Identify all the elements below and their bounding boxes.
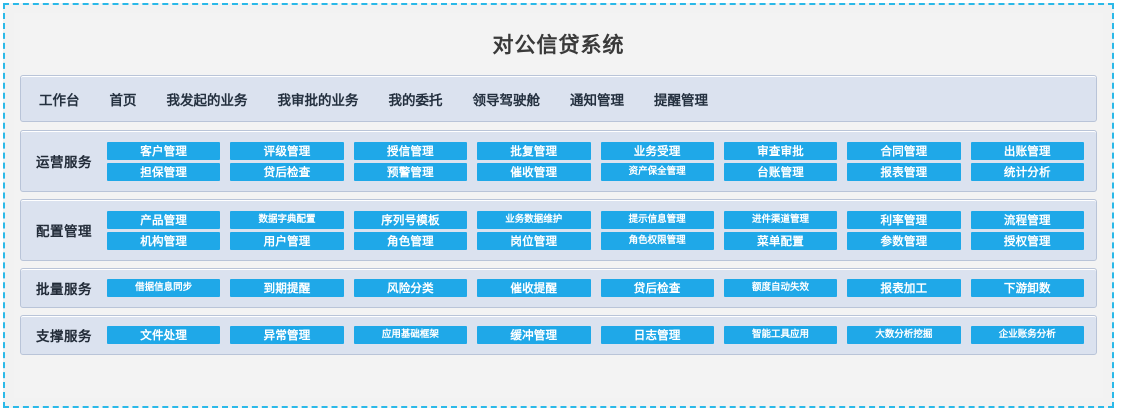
- module-button[interactable]: 贷后检查: [230, 163, 343, 181]
- app-window: 对公信贷系统 工作台首页我发起的业务我审批的业务我的委托领导驾驶舱通知管理提醒管…: [3, 3, 1114, 408]
- module-button[interactable]: 授信管理: [354, 142, 467, 160]
- module-button[interactable]: 合同管理: [847, 142, 960, 160]
- module-button[interactable]: 出账管理: [971, 142, 1084, 160]
- section-label-0: 运营服务: [21, 151, 107, 171]
- nav-item-3[interactable]: 我审批的业务: [278, 89, 359, 109]
- module-button[interactable]: 资产保全管理: [601, 163, 714, 181]
- module-button[interactable]: 统计分析: [971, 163, 1084, 181]
- nav-item-1[interactable]: 首页: [110, 89, 137, 109]
- main-nav: 工作台首页我发起的业务我审批的业务我的委托领导驾驶舱通知管理提醒管理: [20, 75, 1097, 122]
- nav-item-2[interactable]: 我发起的业务: [167, 89, 248, 109]
- module-button[interactable]: 角色管理: [354, 232, 467, 250]
- module-button[interactable]: 客户管理: [107, 142, 220, 160]
- page-title: 对公信贷系统: [493, 29, 625, 59]
- module-button[interactable]: 预警管理: [354, 163, 467, 181]
- module-button[interactable]: 企业账务分析: [971, 326, 1084, 344]
- module-button[interactable]: 评级管理: [230, 142, 343, 160]
- module-button[interactable]: 授权管理: [971, 232, 1084, 250]
- module-button[interactable]: 应用基础框架: [354, 326, 467, 344]
- module-button[interactable]: 借据信息同步: [107, 279, 220, 297]
- module-button[interactable]: 流程管理: [971, 211, 1084, 229]
- module-button[interactable]: 机构管理: [107, 232, 220, 250]
- nav-item-7[interactable]: 提醒管理: [654, 89, 708, 109]
- module-button[interactable]: 贷后检查: [601, 279, 714, 297]
- section-label-3: 支撑服务: [21, 325, 107, 345]
- section-label-2: 批量服务: [21, 278, 107, 298]
- section-1: 配置管理产品管理数据字典配置序列号模板业务数据维护提示信息管理进件渠道管理利率管…: [20, 199, 1097, 261]
- module-button[interactable]: 台账管理: [724, 163, 837, 181]
- module-button[interactable]: 报表加工: [847, 279, 960, 297]
- module-button[interactable]: 数据字典配置: [230, 211, 343, 229]
- module-button[interactable]: 参数管理: [847, 232, 960, 250]
- module-button[interactable]: 利率管理: [847, 211, 960, 229]
- module-button[interactable]: 产品管理: [107, 211, 220, 229]
- module-button[interactable]: 序列号模板: [354, 211, 467, 229]
- module-button[interactable]: 报表管理: [847, 163, 960, 181]
- module-sections: 运营服务客户管理评级管理授信管理批复管理业务受理审查审批合同管理出账管理担保管理…: [14, 130, 1103, 355]
- module-button[interactable]: 批复管理: [477, 142, 590, 160]
- module-button[interactable]: 提示信息管理: [601, 211, 714, 229]
- module-button[interactable]: 菜单配置: [724, 232, 837, 250]
- module-button[interactable]: 日志管理: [601, 326, 714, 344]
- module-button[interactable]: 异常管理: [230, 326, 343, 344]
- section-0: 运营服务客户管理评级管理授信管理批复管理业务受理审查审批合同管理出账管理担保管理…: [20, 130, 1097, 192]
- module-button[interactable]: 缓冲管理: [477, 326, 590, 344]
- section-button-grid-1: 产品管理数据字典配置序列号模板业务数据维护提示信息管理进件渠道管理利率管理流程管…: [107, 211, 1096, 250]
- app-content: 对公信贷系统 工作台首页我发起的业务我审批的业务我的委托领导驾驶舱通知管理提醒管…: [14, 13, 1103, 398]
- nav-item-5[interactable]: 领导驾驶舱: [473, 89, 541, 109]
- section-button-grid-2: 借据信息同步到期提醒风险分类催收提醒贷后检查额度自动失效报表加工下游卸数: [107, 279, 1096, 297]
- module-button[interactable]: 下游卸数: [971, 279, 1084, 297]
- module-button[interactable]: 催收提醒: [477, 279, 590, 297]
- section-button-grid-3: 文件处理异常管理应用基础框架缓冲管理日志管理智能工具应用大数分析挖掘企业账务分析: [107, 326, 1096, 344]
- title-bar: 对公信贷系统: [14, 13, 1103, 75]
- module-button[interactable]: 到期提醒: [230, 279, 343, 297]
- module-button[interactable]: 业务受理: [601, 142, 714, 160]
- module-button[interactable]: 风险分类: [354, 279, 467, 297]
- module-button[interactable]: 业务数据维护: [477, 211, 590, 229]
- module-button[interactable]: 审查审批: [724, 142, 837, 160]
- nav-item-6[interactable]: 通知管理: [570, 89, 624, 109]
- nav-item-4[interactable]: 我的委托: [389, 89, 443, 109]
- module-button[interactable]: 用户管理: [230, 232, 343, 250]
- module-button[interactable]: 智能工具应用: [724, 326, 837, 344]
- module-button[interactable]: 额度自动失效: [724, 279, 837, 297]
- section-button-grid-0: 客户管理评级管理授信管理批复管理业务受理审查审批合同管理出账管理担保管理贷后检查…: [107, 142, 1096, 181]
- module-button[interactable]: 催收管理: [477, 163, 590, 181]
- module-button[interactable]: 岗位管理: [477, 232, 590, 250]
- section-2: 批量服务借据信息同步到期提醒风险分类催收提醒贷后检查额度自动失效报表加工下游卸数: [20, 268, 1097, 308]
- section-label-1: 配置管理: [21, 220, 107, 240]
- module-button[interactable]: 担保管理: [107, 163, 220, 181]
- module-button[interactable]: 大数分析挖掘: [847, 326, 960, 344]
- nav-item-0[interactable]: 工作台: [39, 89, 80, 109]
- module-button[interactable]: 文件处理: [107, 326, 220, 344]
- module-button[interactable]: 进件渠道管理: [724, 211, 837, 229]
- module-button[interactable]: 角色权限管理: [601, 232, 714, 250]
- section-3: 支撑服务文件处理异常管理应用基础框架缓冲管理日志管理智能工具应用大数分析挖掘企业…: [20, 315, 1097, 355]
